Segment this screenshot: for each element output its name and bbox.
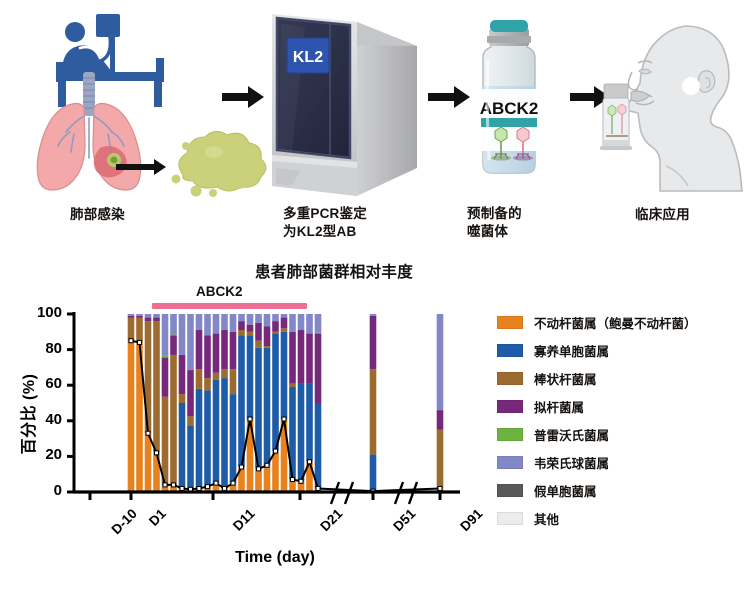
bar-segment	[196, 369, 203, 389]
bar-segment	[264, 465, 271, 492]
bar-D4	[162, 314, 169, 492]
bar-segment	[315, 403, 322, 488]
bar-segment	[281, 328, 288, 332]
trend-point	[155, 451, 159, 455]
workflow-diagram: KL2	[0, 0, 755, 252]
legend-label-prevotella: 普雷沃氏菌属	[534, 425, 609, 444]
legend-label-stenotrophomonas: 寡养单胞菌属	[534, 341, 609, 360]
legend-item-prevotella: 普雷沃氏菌属	[497, 420, 755, 448]
trend-point	[248, 417, 252, 421]
bar-segment	[298, 330, 305, 383]
legend-item-acinetobacter: 不动杆菌属（鲍曼不动杆菌）	[497, 308, 755, 336]
trend-point	[291, 478, 295, 482]
legend-label-other: 其他	[534, 509, 559, 528]
legend-swatch-pseudomonas	[497, 484, 523, 497]
bar-segment	[145, 314, 152, 318]
bar-segment	[247, 325, 254, 332]
bar-D7	[187, 314, 194, 492]
bar-segment	[187, 416, 194, 425]
bar-segment	[196, 314, 203, 330]
bar-segment	[204, 314, 211, 335]
workflow-label-pcr: 多重PCR鉴定 为KL2型AB	[283, 205, 367, 241]
y-tick-label: 40	[22, 411, 62, 428]
bar-segment	[187, 425, 194, 489]
bar-segment	[264, 326, 271, 346]
legend-item-pseudomonas: 假单胞菌属	[497, 476, 755, 504]
bar-D12	[230, 314, 237, 492]
bar-segment	[289, 383, 296, 387]
bar-segment	[221, 378, 228, 488]
bar-segment	[170, 334, 177, 335]
bar-segment	[136, 318, 143, 343]
legend-label-corynebacterium: 棒状杆菌属	[534, 369, 597, 388]
bar-segment	[437, 410, 444, 430]
legend-swatch-acinetobacter	[497, 316, 523, 329]
lungs-icon	[37, 72, 141, 190]
bar-segment	[289, 314, 296, 332]
bar-D6	[179, 314, 186, 492]
bar-segment	[136, 314, 143, 316]
stacked-bars	[128, 314, 444, 492]
trend-point	[438, 486, 442, 490]
bar-segment	[238, 321, 245, 330]
svg-text:KL2: KL2	[293, 49, 323, 66]
bar-segment	[204, 378, 211, 390]
axes	[67, 312, 460, 504]
bar-D5	[170, 314, 177, 492]
trend-point	[231, 481, 235, 485]
legend-label-acinetobacter: 不动杆菌属（鲍曼不动杆菌）	[534, 313, 697, 332]
trend-point	[172, 483, 176, 487]
legend-swatch-stenotrophomonas	[497, 344, 523, 357]
bar-segment	[281, 314, 288, 318]
bar-segment	[213, 334, 220, 373]
trend-point	[240, 465, 244, 469]
vial-icon: ABCK2	[480, 20, 539, 173]
workflow-label-infection: 肺部感染	[70, 206, 125, 224]
pcr-machine-icon: KL2	[272, 14, 417, 196]
trend-point	[129, 339, 133, 343]
bar-segment	[255, 314, 262, 323]
bar-segment	[306, 314, 313, 334]
legend-swatch-other	[497, 512, 523, 525]
bar-segment	[170, 335, 177, 355]
trend-point	[180, 486, 184, 490]
bar-segment	[230, 369, 237, 394]
bar-segment	[281, 318, 288, 329]
bar-D14	[247, 314, 254, 492]
trend-point	[265, 463, 269, 467]
bar-segment	[298, 314, 305, 330]
bar-segment	[272, 314, 279, 321]
bar-segment	[370, 455, 377, 491]
bar-segment	[145, 318, 152, 322]
bar-segment	[179, 355, 186, 394]
legend-swatch-bacteroides	[497, 400, 523, 413]
bar-segment	[221, 330, 228, 369]
bar-segment	[153, 318, 160, 322]
bar-segment	[370, 316, 377, 369]
trend-point	[299, 479, 303, 483]
bar-segment	[306, 383, 313, 461]
bar-segment	[213, 380, 220, 483]
legend-item-bacteroides: 拟杆菌属	[497, 392, 755, 420]
legend-swatch-prevotella	[497, 428, 523, 441]
figure-root: KL2	[0, 0, 755, 592]
bar-segment	[153, 314, 160, 318]
bar-segment	[272, 321, 279, 332]
trend-point	[223, 486, 227, 490]
y-tick-label: 100	[22, 304, 62, 321]
bar-segment	[128, 318, 135, 341]
y-tick-label: 0	[22, 482, 62, 499]
bar-segment	[136, 316, 143, 318]
bar-segment	[187, 314, 194, 370]
y-tick-label: 20	[22, 446, 62, 463]
bar-segment	[162, 314, 169, 356]
legend-label-pseudomonas: 假单胞菌属	[534, 481, 597, 500]
trend-point	[146, 431, 150, 435]
bar-segment	[264, 346, 271, 348]
trend-point	[214, 481, 218, 485]
trend-point	[308, 460, 312, 464]
bar-segment	[230, 394, 237, 483]
bar-segment	[170, 355, 177, 483]
bar-segment	[128, 316, 135, 318]
bar-segment	[221, 369, 228, 378]
head-inhaler-icon	[600, 26, 742, 191]
bar-segment	[238, 330, 245, 335]
bar-segment	[255, 469, 262, 492]
bar-segment	[221, 314, 228, 330]
legend-item-corynebacterium: 棒状杆菌属	[497, 364, 755, 392]
bar-segment	[272, 334, 279, 451]
bar-D10	[213, 314, 220, 492]
trend-point	[316, 486, 320, 490]
bar-D22	[315, 314, 322, 492]
legend-swatch-veillonella	[497, 456, 523, 469]
arrow-right-icon	[222, 86, 264, 108]
bar-segment	[315, 314, 322, 333]
bar-segment	[272, 451, 279, 492]
bar-segment	[264, 348, 271, 465]
workflow-label-phage: 预制备的 噬菌体	[467, 205, 522, 241]
bar-segment	[153, 321, 160, 453]
bar-segment	[162, 356, 169, 358]
bar-segment	[264, 314, 271, 326]
bar-segment	[170, 314, 177, 334]
bar-segment	[204, 335, 211, 378]
workflow-label-clinic: 临床应用	[635, 206, 690, 224]
bar-segment	[213, 373, 220, 380]
bar-segment	[315, 334, 322, 403]
bar-segment	[179, 403, 186, 488]
sputum-icon	[172, 131, 267, 197]
bar-segment	[370, 369, 377, 454]
bar-D8	[196, 314, 203, 492]
bar-segment	[272, 332, 279, 334]
trend-point	[282, 417, 286, 421]
bar-segment	[247, 314, 254, 325]
hospital-bed-patient-icon	[56, 14, 164, 107]
bar-segment	[179, 394, 186, 403]
bar-segment	[306, 334, 313, 384]
bar-segment	[289, 332, 296, 384]
bar-segment	[238, 314, 245, 321]
bar-segment	[162, 397, 169, 484]
bar-D51	[370, 314, 377, 492]
bar-segment	[196, 389, 203, 489]
bar-segment	[315, 333, 322, 334]
trend-point	[138, 340, 142, 344]
bar-segment	[230, 332, 237, 369]
y-tick-label: 60	[22, 375, 62, 392]
bar-segment	[255, 341, 262, 348]
arrow-right-icon	[428, 86, 470, 108]
bar-segment	[204, 391, 211, 487]
plot-area	[0, 252, 500, 592]
bar-D91	[437, 314, 444, 492]
bar-segment	[145, 433, 152, 492]
bar-D11	[221, 314, 228, 492]
legend-item-other: 其他	[497, 504, 755, 532]
bar-segment	[437, 430, 444, 489]
bar-segment	[162, 358, 169, 397]
bar-segment	[298, 383, 305, 481]
trend-point	[257, 467, 261, 471]
legend-item-stenotrophomonas: 寡养单胞菌属	[497, 336, 755, 364]
bar-segment	[128, 341, 135, 492]
trend-point	[206, 485, 210, 489]
bar-D9	[204, 314, 211, 492]
bar-segment	[247, 332, 254, 336]
bar-segment	[281, 332, 288, 419]
legend-label-bacteroides: 拟杆菌属	[534, 397, 584, 416]
trend-point	[163, 483, 167, 487]
y-tick-label: 80	[22, 340, 62, 357]
legend-label-veillonella: 韦荣氏球菌属	[534, 453, 609, 472]
bar-segment	[230, 314, 237, 332]
bar-segment	[187, 370, 194, 416]
bar-segment	[196, 330, 203, 369]
bar-segment	[255, 323, 262, 341]
bar-segment	[213, 314, 220, 334]
bar-segment	[370, 314, 377, 316]
chart-legend: 不动杆菌属（鲍曼不动杆菌）寡养单胞菌属棒状杆菌属拟杆菌属普雷沃氏菌属韦荣氏球菌属…	[497, 308, 755, 532]
bar-segment	[179, 314, 186, 355]
bar-segment	[238, 335, 245, 467]
legend-swatch-corynebacterium	[497, 372, 523, 385]
x-axis-label: Time (day)	[180, 549, 370, 567]
bar-D20	[298, 314, 305, 492]
bar-segment	[128, 314, 135, 316]
bar-segment	[437, 314, 444, 410]
bar-segment	[247, 335, 254, 419]
bar-D18	[281, 314, 288, 492]
bar-D17	[272, 314, 279, 492]
trend-point	[197, 486, 201, 490]
trend-point	[274, 449, 278, 453]
legend-item-veillonella: 韦荣氏球菌属	[497, 448, 755, 476]
